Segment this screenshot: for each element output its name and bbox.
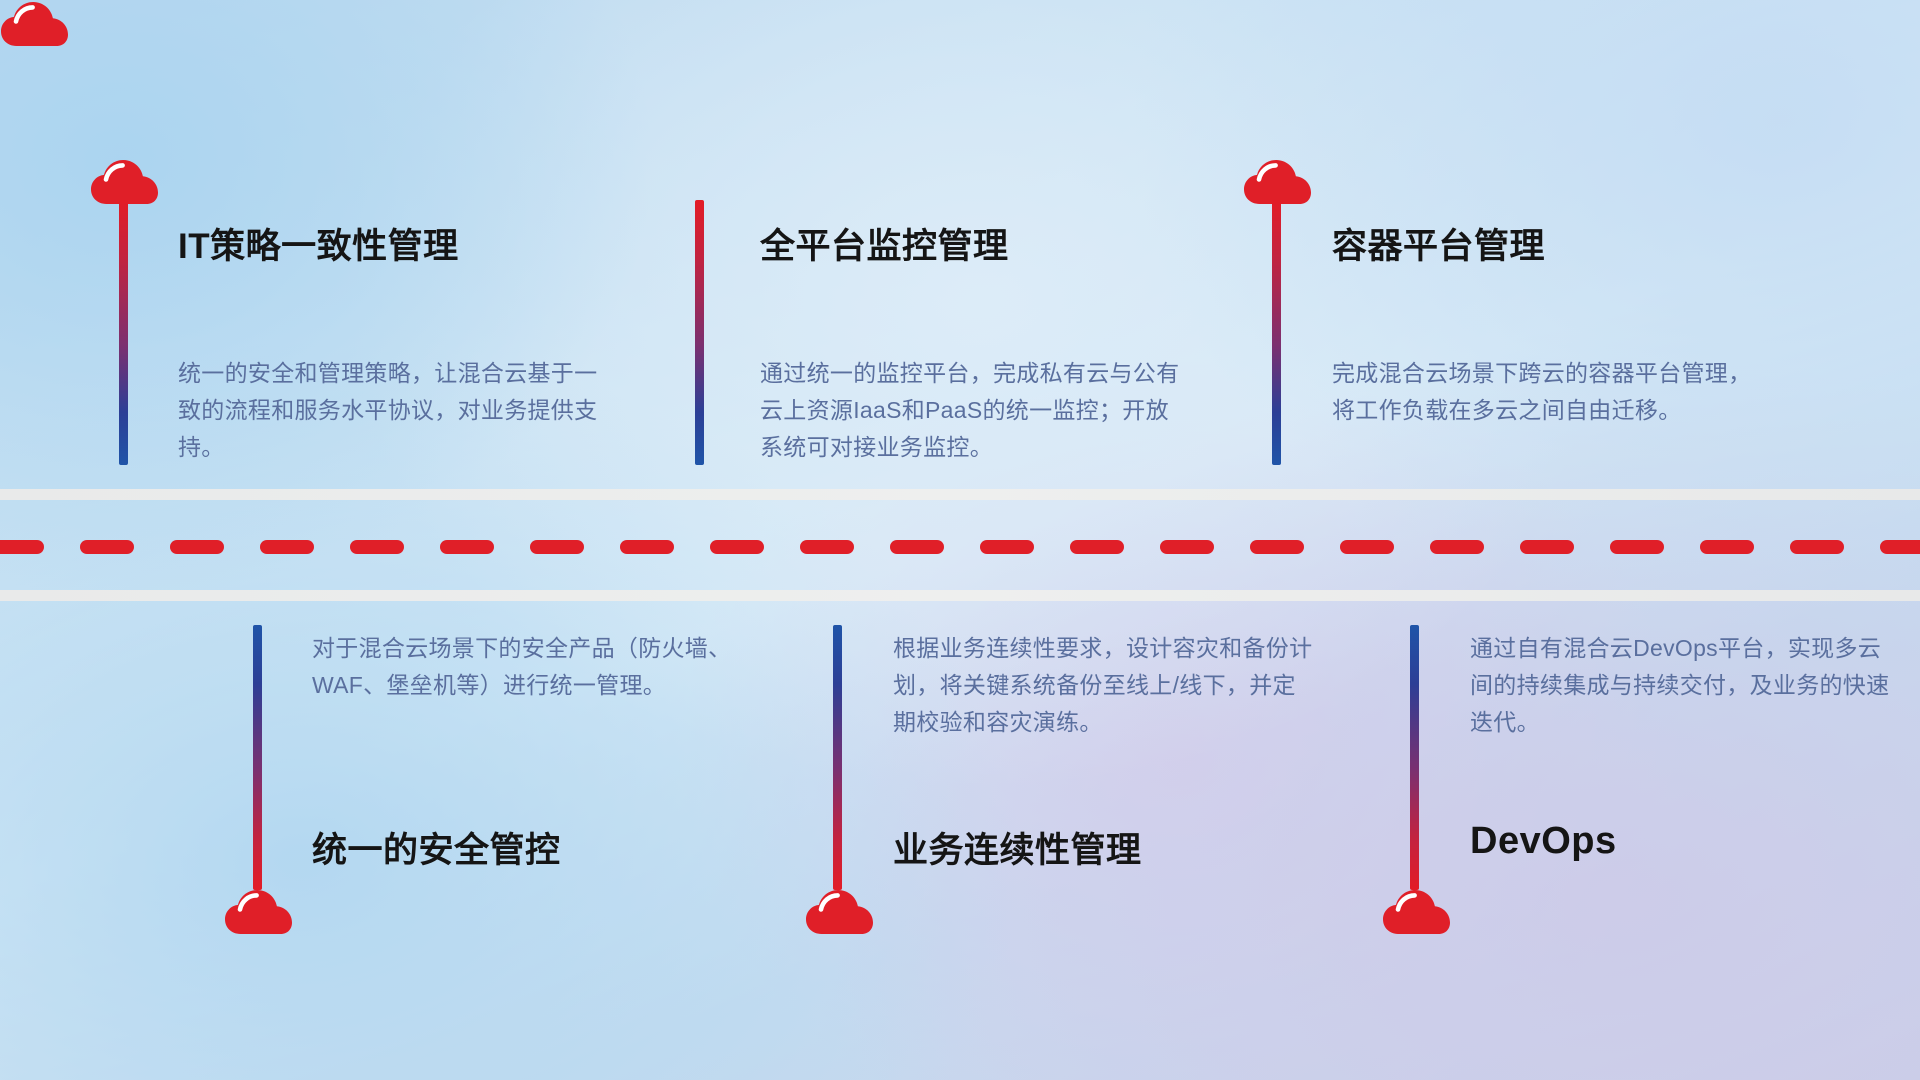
- dash-segment: [0, 540, 44, 554]
- cloud-icon: [1243, 158, 1313, 206]
- dash-segment: [1880, 540, 1920, 554]
- cloud-icon: [1382, 888, 1452, 936]
- dash-segment: [1700, 540, 1754, 554]
- dash-segment: [980, 540, 1034, 554]
- card-body: 根据业务连续性要求，设计容灾和备份计划，将关键系统备份至线上/线下，并定期校验和…: [893, 630, 1313, 741]
- dash-segment: [1430, 540, 1484, 554]
- dash-segment: [1520, 540, 1574, 554]
- card-body: 对于混合云场景下的安全产品（防火墙、WAF、堡垒机等）进行统一管理。: [312, 630, 732, 704]
- dash-segment: [1790, 540, 1844, 554]
- connector-stem: [119, 200, 128, 465]
- card-title: 全平台监控管理: [760, 218, 1009, 269]
- card-body: 完成混合云场景下跨云的容器平台管理，将工作负载在多云之间自由迁移。: [1332, 355, 1752, 429]
- dash-segment: [620, 540, 674, 554]
- cloud-icon: [224, 888, 294, 936]
- dash-segment: [1250, 540, 1304, 554]
- connector-stem: [1272, 200, 1281, 465]
- dash-segment: [170, 540, 224, 554]
- dash-segment: [1340, 540, 1394, 554]
- connector-stem: [1410, 625, 1419, 890]
- cloud-icon: [0, 0, 70, 48]
- card-title: DevOps: [1470, 820, 1617, 863]
- dash-segment: [1160, 540, 1214, 554]
- card-title: IT策略一致性管理: [178, 218, 459, 269]
- dash-segment: [80, 540, 134, 554]
- card-body: 通过统一的监控平台，完成私有云与公有云上资源IaaS和PaaS的统一监控；开放系…: [760, 355, 1180, 466]
- dash-segment: [1610, 540, 1664, 554]
- card-title: 容器平台管理: [1332, 218, 1545, 269]
- infographic-canvas: IT策略一致性管理 统一的安全和管理策略，让混合云基于一致的流程和服务水平协议，…: [0, 0, 1920, 1080]
- card-body: 通过自有混合云DevOps平台，实现多云间的持续集成与持续交付，及业务的快速迭代…: [1470, 630, 1890, 741]
- connector-stem: [695, 200, 704, 465]
- dash-segment: [710, 540, 764, 554]
- dash-segment: [350, 540, 404, 554]
- card-title: 业务连续性管理: [893, 822, 1142, 873]
- card-title: 统一的安全管控: [312, 822, 561, 873]
- dash-segment: [800, 540, 854, 554]
- divider-band-bottom: [0, 590, 1920, 601]
- dash-segment: [440, 540, 494, 554]
- dash-segment: [260, 540, 314, 554]
- connector-stem: [833, 625, 842, 890]
- cloud-icon: [805, 888, 875, 936]
- divider-band-top: [0, 489, 1920, 500]
- card-body: 统一的安全和管理策略，让混合云基于一致的流程和服务水平协议，对业务提供支持。: [178, 355, 598, 466]
- dashed-road-line: [0, 540, 1920, 554]
- cloud-icon: [90, 158, 160, 206]
- dash-segment: [890, 540, 944, 554]
- dash-segment: [1070, 540, 1124, 554]
- dash-segment: [530, 540, 584, 554]
- connector-stem: [253, 625, 262, 890]
